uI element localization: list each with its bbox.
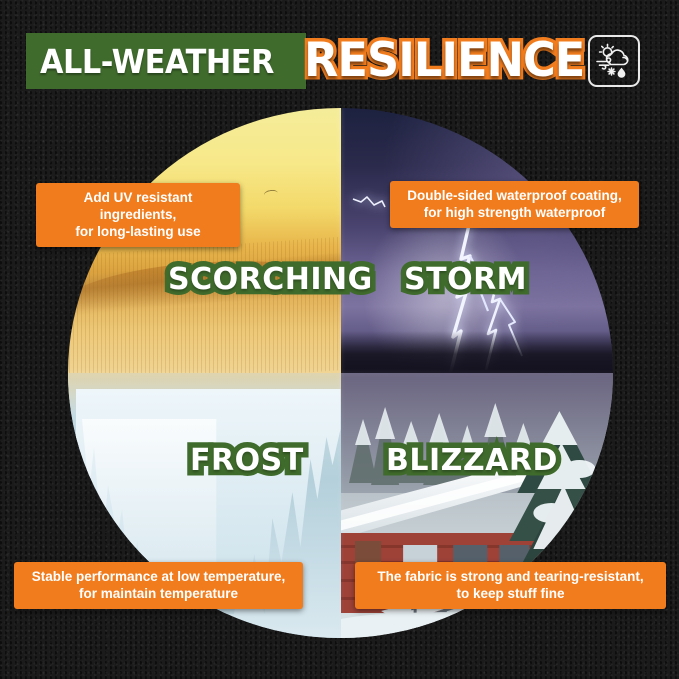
storm-treeline bbox=[341, 331, 614, 373]
caption-frost: Stable performance at low temperature, f… bbox=[14, 562, 303, 609]
label-storm: STORM bbox=[404, 262, 527, 297]
scene-storm bbox=[341, 108, 614, 373]
label-frost: FROST bbox=[190, 443, 304, 478]
header-title-all-weather: ALL-WEATHER bbox=[40, 42, 274, 81]
label-blizzard: BLIZZARD bbox=[386, 443, 558, 478]
header-orange-block: RESILIENCE bbox=[304, 33, 599, 89]
sand-ripples bbox=[68, 234, 341, 373]
infographic-canvas: ALL-WEATHER RESILIENCE bbox=[0, 0, 679, 679]
bird-silhouette bbox=[264, 189, 279, 199]
header-banner: ALL-WEATHER RESILIENCE bbox=[26, 33, 599, 89]
caption-blizzard: The fabric is strong and tearing-resista… bbox=[355, 562, 666, 609]
caption-storm: Double-sided waterproof coating, for hig… bbox=[390, 181, 639, 228]
header-title-resilience: RESILIENCE bbox=[304, 33, 584, 89]
label-scorching: SCORCHING bbox=[168, 262, 373, 297]
sun-cloud-wind-snow-rain-icon bbox=[590, 37, 638, 85]
caption-scorching: Add UV resistant ingredients, for long-l… bbox=[36, 183, 240, 247]
weather-icon-badge bbox=[588, 35, 640, 87]
lightning-bolt-small bbox=[351, 193, 387, 219]
header-green-block: ALL-WEATHER bbox=[26, 33, 306, 89]
quadrant-seam-horizontal bbox=[68, 372, 613, 375]
